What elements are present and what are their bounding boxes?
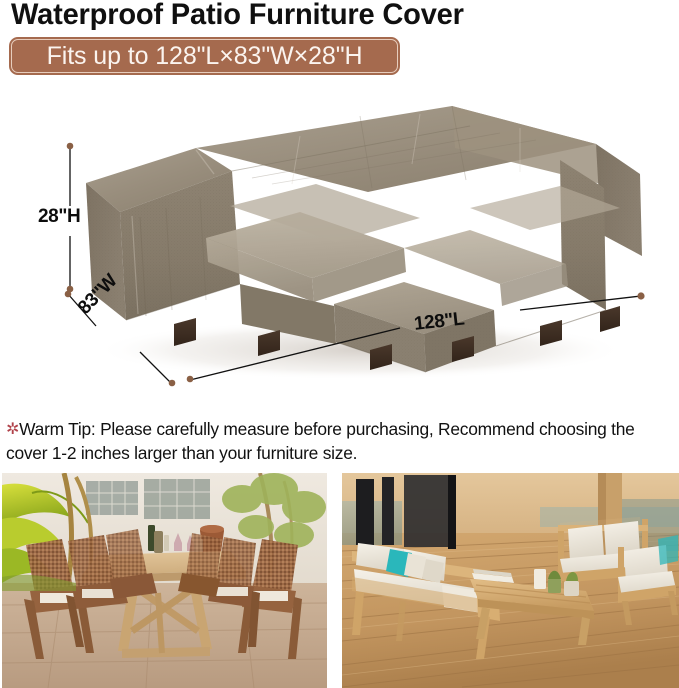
cover-diagram: 28"H 83"W 128"L bbox=[0, 88, 679, 408]
teak-sofa-set-photo bbox=[342, 473, 679, 688]
window bbox=[86, 479, 210, 519]
warm-tip: ✲Warm Tip: Please carefully measure befo… bbox=[6, 418, 678, 465]
dimension-height-label: 28"H bbox=[38, 206, 80, 228]
patio-dining-set-photo bbox=[2, 473, 327, 688]
page-title: Waterproof Patio Furniture Cover bbox=[11, 0, 464, 32]
size-badge-label: Fits up to 128"L×83"W×28"H bbox=[9, 37, 400, 75]
size-badge: Fits up to 128"L×83"W×28"H bbox=[9, 37, 400, 75]
lifestyle-photo-row bbox=[0, 473, 679, 688]
asterisk-icon: ✲ bbox=[6, 421, 19, 438]
teak-sofa-set-illustration bbox=[342, 473, 679, 688]
sliding-door bbox=[356, 475, 456, 549]
product-infographic: Waterproof Patio Furniture Cover Fits up… bbox=[0, 0, 679, 688]
warm-tip-text: Warm Tip: Please carefully measure befor… bbox=[6, 419, 635, 463]
patio-dining-set-illustration bbox=[2, 473, 327, 688]
cover-illustration bbox=[0, 88, 679, 408]
